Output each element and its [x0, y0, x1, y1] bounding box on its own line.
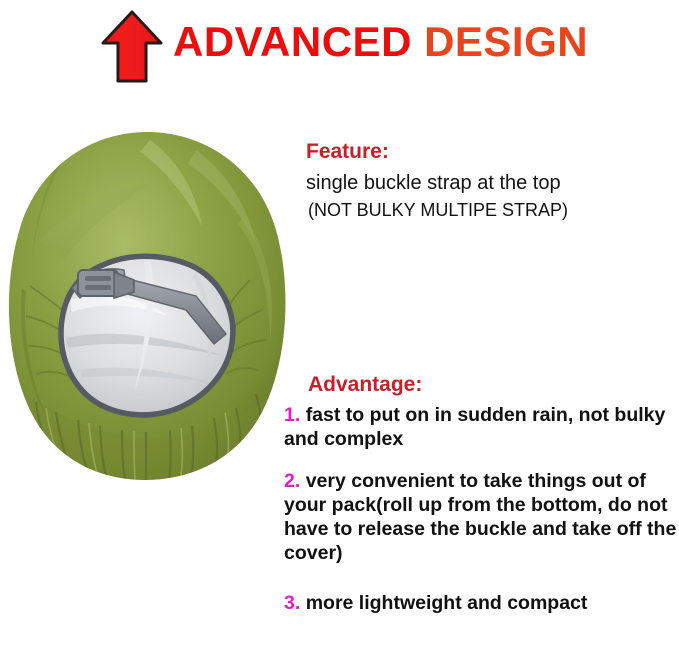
feature-section: Feature: single buckle strap at the top …	[306, 138, 676, 223]
header-banner: ADVANCED DESIGN	[0, 0, 679, 100]
advantage-heading: Advantage:	[284, 371, 679, 399]
buckle-icon	[78, 270, 118, 296]
feature-line-primary: single buckle strap at the top	[306, 170, 676, 197]
advantage-item-number: 3.	[284, 592, 300, 614]
advantage-section: Advantage: 1. fast to put on in sudden r…	[284, 371, 679, 615]
advantage-item: 3. more lightweight and compact	[284, 591, 679, 615]
advantage-item-text: very convenient to take things out of yo…	[284, 470, 676, 564]
advantage-item: 1. fast to put on in sudden rain, not bu…	[284, 403, 679, 451]
feature-heading: Feature:	[306, 138, 676, 166]
advantage-item-number: 1.	[284, 404, 300, 426]
advantage-item-number: 2.	[284, 470, 300, 492]
page-title-part-one: ADVANCED	[173, 18, 412, 65]
advantage-item: 2. very convenient to take things out of…	[284, 469, 679, 565]
feature-line-secondary: (NOT BULKY MULTIPE STRAP)	[306, 197, 676, 223]
page-title: ADVANCED DESIGN	[173, 16, 588, 68]
advantage-item-text: fast to put on in sudden rain, not bulky…	[284, 404, 665, 450]
page-title-part-two: DESIGN	[424, 18, 588, 65]
advantage-item-text: more lightweight and compact	[306, 592, 588, 614]
product-image	[0, 120, 295, 488]
up-arrow-icon	[99, 9, 165, 85]
